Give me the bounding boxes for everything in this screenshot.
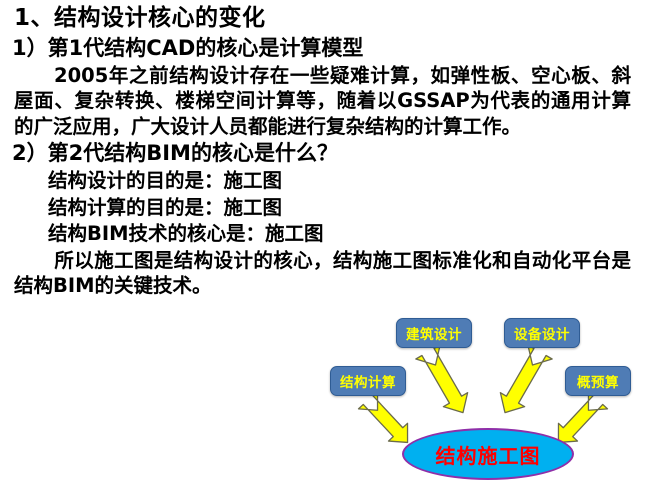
section-2-heading: 2）第2代结构BIM的核心是什么？ [12, 140, 645, 167]
diagram-node-gaiyusuan[interactable]: 概预算 [565, 366, 631, 396]
arrow-jianzhu-to-center [416, 345, 475, 420]
arrow-shebei-to-center [493, 345, 552, 420]
page-title: 1、结构设计核心的变化 [14, 4, 645, 34]
section-2-line-1: 结构设计的目的是：施工图 [48, 168, 645, 194]
section-2-line-3: 结构BIM技术的核心是：施工图 [48, 221, 645, 247]
slide-text-body: 1、结构设计核心的变化 1）第1代结构CAD的核心是计算模型 2005年之前结构… [0, 0, 645, 299]
section-2-conclusion: 所以施工图是结构设计的核心，结构施工图标准化和自动化平台是结构BIM的关键技术。 [14, 248, 631, 299]
section-1-paragraph-text: 2005年之前结构设计存在一些疑难计算，如弹性板、空心板、斜屋面、复杂转换、楼梯… [14, 64, 631, 138]
arrow-jiegou-to-center [358, 391, 417, 451]
structure-relationship-diagram: 结构施工图 (lower-left, pointing down-right) … [320, 310, 645, 483]
diagram-node-jianzhu-sheji[interactable]: 建筑设计 [396, 318, 472, 348]
diagram-center-node-jiegou-shigongtu[interactable]: 结构施工图 [402, 428, 574, 480]
diagram-node-jiegou-jisuan[interactable]: 结构计算 [330, 366, 406, 396]
section-2-line-2: 结构计算的目的是：施工图 [48, 195, 645, 221]
diagram-node-shebei-sheji[interactable]: 设备设计 [504, 318, 580, 348]
section-1-heading: 1）第1代结构CAD的核心是计算模型 [12, 35, 645, 62]
section-1-paragraph: 2005年之前结构设计存在一些疑难计算，如弹性板、空心板、斜屋面、复杂转换、楼梯… [14, 63, 631, 140]
section-2-conclusion-text: 所以施工图是结构设计的核心，结构施工图标准化和自动化平台是结构BIM的关键技术。 [14, 249, 631, 298]
